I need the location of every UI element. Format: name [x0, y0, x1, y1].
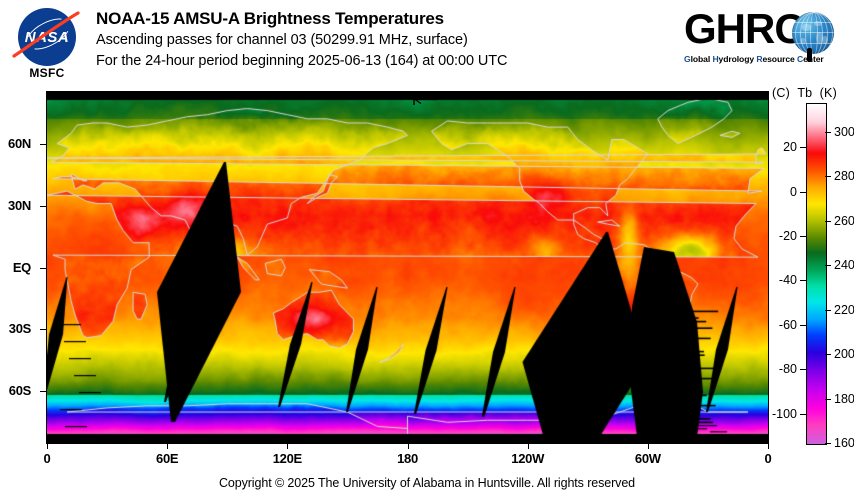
colorbar-tick-kelvin — [825, 132, 831, 133]
colorbar-label-kelvin: 220 — [834, 303, 854, 317]
latitude-tick — [40, 329, 46, 330]
colorbar-tick-kelvin — [825, 354, 831, 355]
nasa-center-label: MSFC — [10, 66, 84, 80]
colorbar-label-celsius: -40 — [779, 273, 797, 287]
colorbar-label-kelvin: 240 — [834, 258, 854, 272]
left-arrow-icon — [404, 91, 438, 107]
colorbar: 300280260240220200180160200-20-40-60-80-… — [806, 103, 825, 443]
longitude-label: 60E — [156, 451, 178, 466]
colorbar-unit-kelvin: (K) — [820, 86, 837, 100]
latitude-label: 30S — [9, 321, 31, 336]
colorbar-tick-kelvin — [825, 265, 831, 266]
longitude-label: 0 — [44, 451, 51, 466]
colorbar-tick-celsius — [800, 325, 806, 326]
colorbar-label-celsius: 0 — [790, 185, 797, 199]
latitude-label: 60N — [8, 136, 31, 151]
longitude-tick — [648, 443, 649, 449]
longitude-axis: 060E120E180120W60W0 — [47, 443, 768, 473]
map-canvas — [47, 92, 768, 443]
ghrc-wordmark: GHRC — [684, 6, 804, 52]
colorbar-label-celsius: -80 — [779, 362, 797, 376]
longitude-label: 0 — [765, 451, 772, 466]
latitude-label: 30N — [8, 198, 31, 213]
colorbar-tick-kelvin — [825, 443, 831, 444]
colorbar-label-kelvin: 260 — [834, 214, 854, 228]
colorbar-tick-kelvin — [825, 399, 831, 400]
colorbar-tick-celsius — [800, 369, 806, 370]
latitude-tick — [40, 391, 46, 392]
colorbar-tick-kelvin — [825, 310, 831, 311]
colorbar-label-celsius: -60 — [779, 318, 797, 332]
latitude-label: 60S — [9, 383, 31, 398]
colorbar-label-kelvin: 160 — [834, 436, 854, 450]
longitude-tick — [167, 443, 168, 449]
longitude-tick — [47, 443, 48, 449]
colorbar-tick-celsius — [800, 147, 806, 148]
longitude-tick — [528, 443, 529, 449]
nasa-logo: NASA MSFC — [10, 6, 84, 80]
longitude-tick — [287, 443, 288, 449]
colorbar-tick-celsius — [800, 192, 806, 193]
colorbar-label-kelvin: 300 — [834, 125, 854, 139]
latitude-axis: 60N30NEQ30S60S — [0, 92, 40, 443]
copyright-notice: Copyright © 2025 The University of Alaba… — [0, 476, 854, 490]
page-title: NOAA-15 AMSU-A Brightness Temperatures — [96, 8, 507, 30]
latitude-tick — [40, 268, 46, 269]
longitude-label: 120E — [273, 451, 302, 466]
globe-icon — [792, 12, 834, 54]
longitude-tick — [768, 443, 769, 449]
longitude-label: 120W — [511, 451, 544, 466]
nasa-swoosh-icon — [12, 10, 82, 62]
longitude-tick — [408, 443, 409, 449]
subtitle-period: For the 24-hour period beginning 2025-06… — [96, 51, 507, 72]
subtitle-channel: Ascending passes for channel 03 (50299.9… — [96, 30, 507, 51]
ghrc-tagline: Global Hydrology Resource Center — [684, 54, 846, 64]
title-block: NOAA-15 AMSU-A Brightness Temperatures A… — [96, 8, 507, 72]
colorbar-tick-kelvin — [825, 176, 831, 177]
colorbar-label-celsius: -100 — [772, 407, 797, 421]
colorbar-variable-label: Tb — [797, 86, 812, 100]
longitude-label: 60W — [635, 451, 661, 466]
colorbar-unit-celsius: (C) — [772, 86, 790, 100]
colorbar-gradient — [806, 103, 827, 445]
colorbar-tick-celsius — [800, 414, 806, 415]
colorbar-label-celsius: -20 — [779, 229, 797, 243]
colorbar-label-celsius: 20 — [783, 140, 797, 154]
latitude-tick — [40, 206, 46, 207]
colorbar-label-kelvin: 280 — [834, 169, 854, 183]
latitude-label: EQ — [13, 260, 31, 275]
latitude-tick — [40, 144, 46, 145]
ghrc-logo: GHRC Global Hydrology Resource Center — [684, 6, 846, 74]
colorbar-label-kelvin: 200 — [834, 347, 854, 361]
colorbar-label-kelvin: 180 — [834, 392, 854, 406]
brightness-temperature-map — [47, 92, 768, 443]
longitude-label: 180 — [397, 451, 418, 466]
colorbar-tick-kelvin — [825, 221, 831, 222]
colorbar-units: (C) Tb (K) — [772, 86, 854, 100]
colorbar-tick-celsius — [800, 280, 806, 281]
colorbar-tick-celsius — [800, 236, 806, 237]
